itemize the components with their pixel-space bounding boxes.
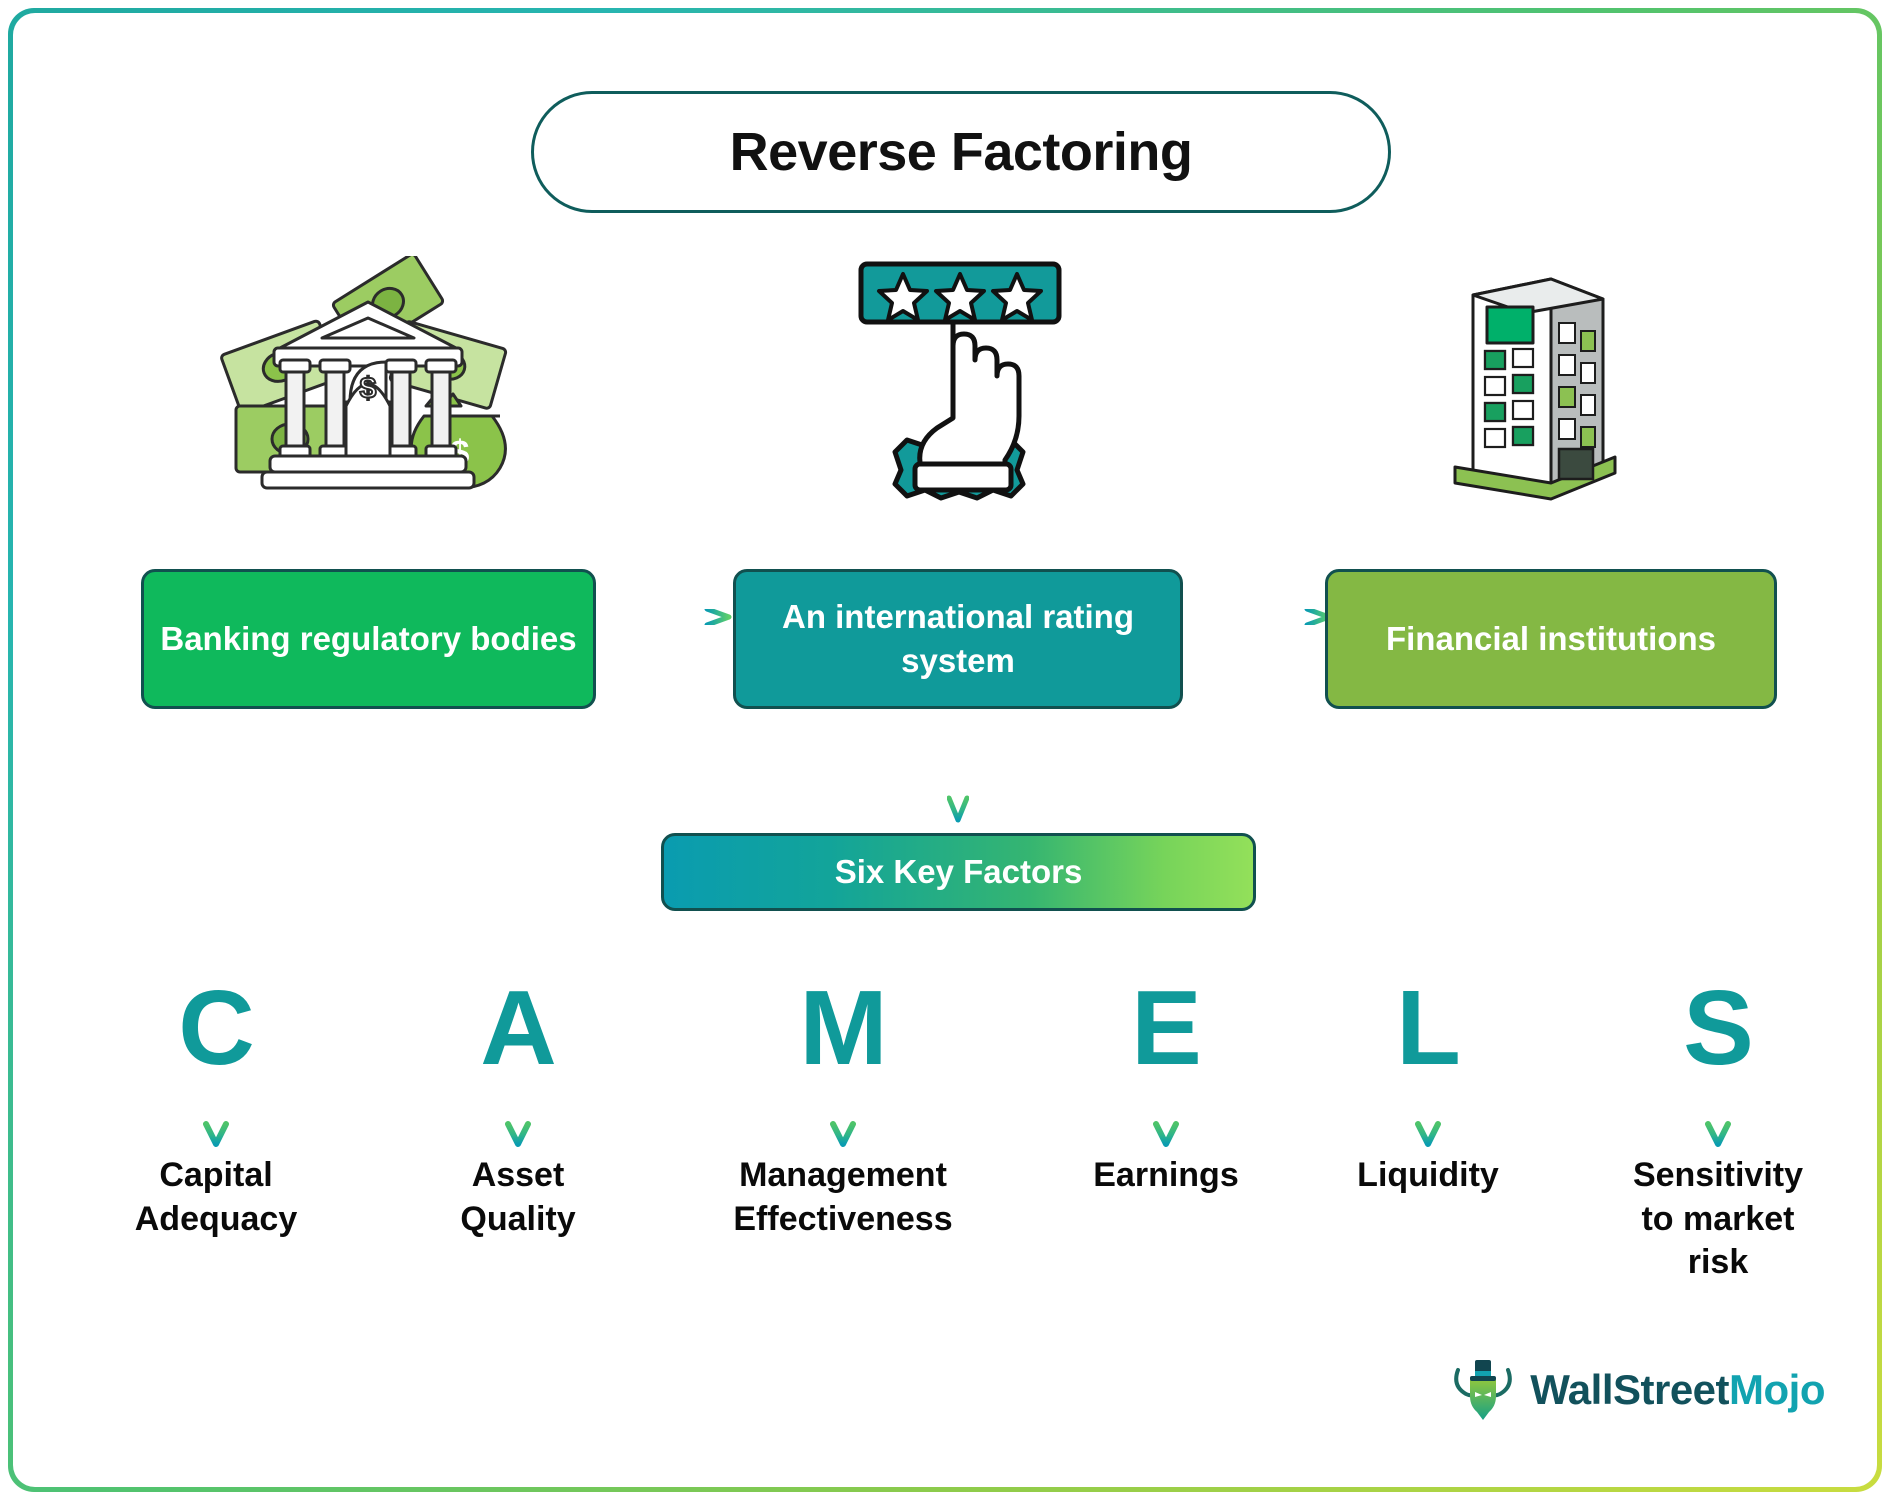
camels-label-earnings: Earnings	[1093, 1154, 1238, 1198]
flow-box-label: An international rating system	[752, 595, 1164, 682]
bank-money-icon: $	[203, 241, 533, 521]
flow-box-label: Banking regulatory bodies	[160, 617, 576, 661]
flow-arrow-2-icon	[1183, 609, 1333, 625]
camels-letter-a: A	[480, 973, 556, 1084]
camels-label-sensitivity-to-market-risk: Sensitivity to market risk	[1633, 1154, 1803, 1285]
wallstreetmojo-logo[interactable]: WallStreetMojo	[1450, 1354, 1825, 1425]
bull-with-tophat-icon	[1450, 1354, 1516, 1425]
star-rating-hand-icon	[798, 241, 1128, 521]
page-canvas: Reverse Factoring	[13, 13, 1877, 1487]
camels-item-liquidity: L Liquidity	[1278, 973, 1578, 1198]
flow-arrow-1-icon	[583, 609, 733, 625]
camels-label-liquidity: Liquidity	[1357, 1154, 1499, 1198]
page-title: Reverse Factoring	[730, 121, 1193, 183]
camels-label-capital-adequacy: Capital Adequacy	[135, 1154, 298, 1241]
camels-down-arrow-icon	[203, 1088, 229, 1148]
camels-letter-c: C	[178, 973, 254, 1084]
flow-box-financial-institutions[interactable]: Financial institutions	[1325, 569, 1777, 709]
page-border-frame: Reverse Factoring	[8, 8, 1882, 1492]
flow-box-banking-regulatory-bodies[interactable]: Banking regulatory bodies	[141, 569, 596, 709]
svg-text:$: $	[360, 372, 377, 405]
camels-item-capital-adequacy: C Capital Adequacy	[66, 973, 366, 1241]
flow-box-label: Financial institutions	[1386, 617, 1716, 661]
connector-down-arrow-icon	[947, 710, 969, 825]
logo-text: WallStreetMojo	[1530, 1366, 1825, 1414]
page-title-pill: Reverse Factoring	[531, 91, 1391, 213]
logo-text-secondary: Mojo	[1729, 1366, 1825, 1413]
camels-label-management-effectiveness: Management Effectiveness	[733, 1154, 952, 1241]
camels-item-earnings: E Earnings	[1016, 973, 1316, 1198]
camels-letter-m: M	[799, 973, 886, 1084]
camels-down-arrow-icon	[505, 1088, 531, 1148]
camels-label-asset-quality: Asset Quality	[460, 1154, 575, 1241]
flow-box-international-rating-system[interactable]: An international rating system	[733, 569, 1183, 709]
camels-grid: C Capital Adequacy A	[13, 973, 1877, 1393]
camels-down-arrow-icon	[830, 1088, 856, 1148]
camels-item-asset-quality: A Asset Quality	[368, 973, 668, 1241]
camels-down-arrow-icon	[1153, 1088, 1179, 1148]
camels-down-arrow-icon	[1705, 1088, 1731, 1148]
camels-letter-e: E	[1131, 973, 1201, 1084]
six-key-factors-bar[interactable]: Six Key Factors	[661, 833, 1256, 911]
logo-text-primary: WallStreet	[1530, 1366, 1729, 1413]
camels-item-management-effectiveness: M Management Effectiveness	[693, 973, 993, 1241]
office-building-icon	[1368, 241, 1698, 521]
infographic-page: Reverse Factoring	[0, 0, 1890, 1500]
camels-letter-s: S	[1683, 973, 1753, 1084]
camels-letter-l: L	[1396, 973, 1460, 1084]
six-key-factors-label: Six Key Factors	[835, 853, 1083, 891]
camels-down-arrow-icon	[1415, 1088, 1441, 1148]
icon-row: $	[13, 241, 1877, 531]
camels-item-sensitivity-to-market-risk: S Sensitivity to market risk	[1568, 973, 1868, 1285]
